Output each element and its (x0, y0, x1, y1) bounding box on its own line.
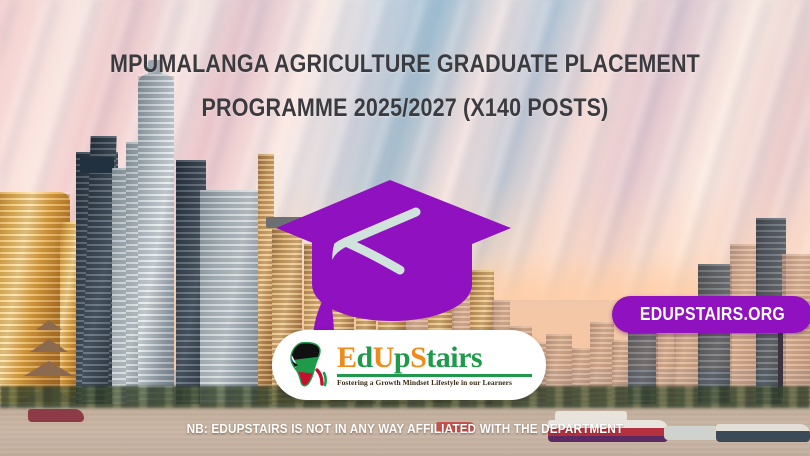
logo-tagline: Fostering a Growth Mindset Lifestyle in … (337, 378, 532, 387)
building-aperture (80, 157, 114, 173)
building-gray-wide (200, 190, 266, 404)
graduation-cap-icon (268, 176, 518, 336)
poster-canvas: MPUMALANGA AGRICULTURE GRADUATE PLACEMEN… (0, 0, 810, 456)
africa-map-south-african-flag-icon (284, 340, 334, 390)
website-badge[interactable]: EDUPSTAIRS.ORG (612, 296, 810, 333)
affiliation-disclaimer: NB: EDUPSTAIRS IS NOT IN ANY WAY AFFILIA… (41, 421, 770, 436)
building-shanghai-tower (138, 74, 174, 404)
building-far-9 (698, 264, 732, 404)
website-badge-label: EDUPSTAIRS.ORG (639, 304, 784, 325)
logo-part-2: U (373, 341, 394, 374)
logo-part-4: S (410, 341, 426, 374)
logo-underline-rule (337, 374, 532, 377)
logo-part-0: E (337, 341, 357, 374)
headline-line-2: PROGRAMME 2025/2027 (X140 POSTS) (57, 96, 754, 121)
poster-headline: MPUMALANGA AGRICULTURE GRADUATE PLACEMEN… (0, 52, 810, 121)
logo-wordmark: EdUpStairs (337, 343, 532, 373)
headline-line-1: MPUMALANGA AGRICULTURE GRADUATE PLACEMEN… (57, 52, 754, 77)
logo-part-1: d (357, 341, 373, 374)
edupstairs-logo[interactable]: EdUpStairs Fostering a Growth Mindset Li… (272, 330, 546, 400)
logo-part-3: p (394, 341, 410, 374)
logo-part-5: tairs (426, 341, 482, 374)
logo-text-block: EdUpStairs Fostering a Growth Mindset Li… (334, 343, 532, 387)
